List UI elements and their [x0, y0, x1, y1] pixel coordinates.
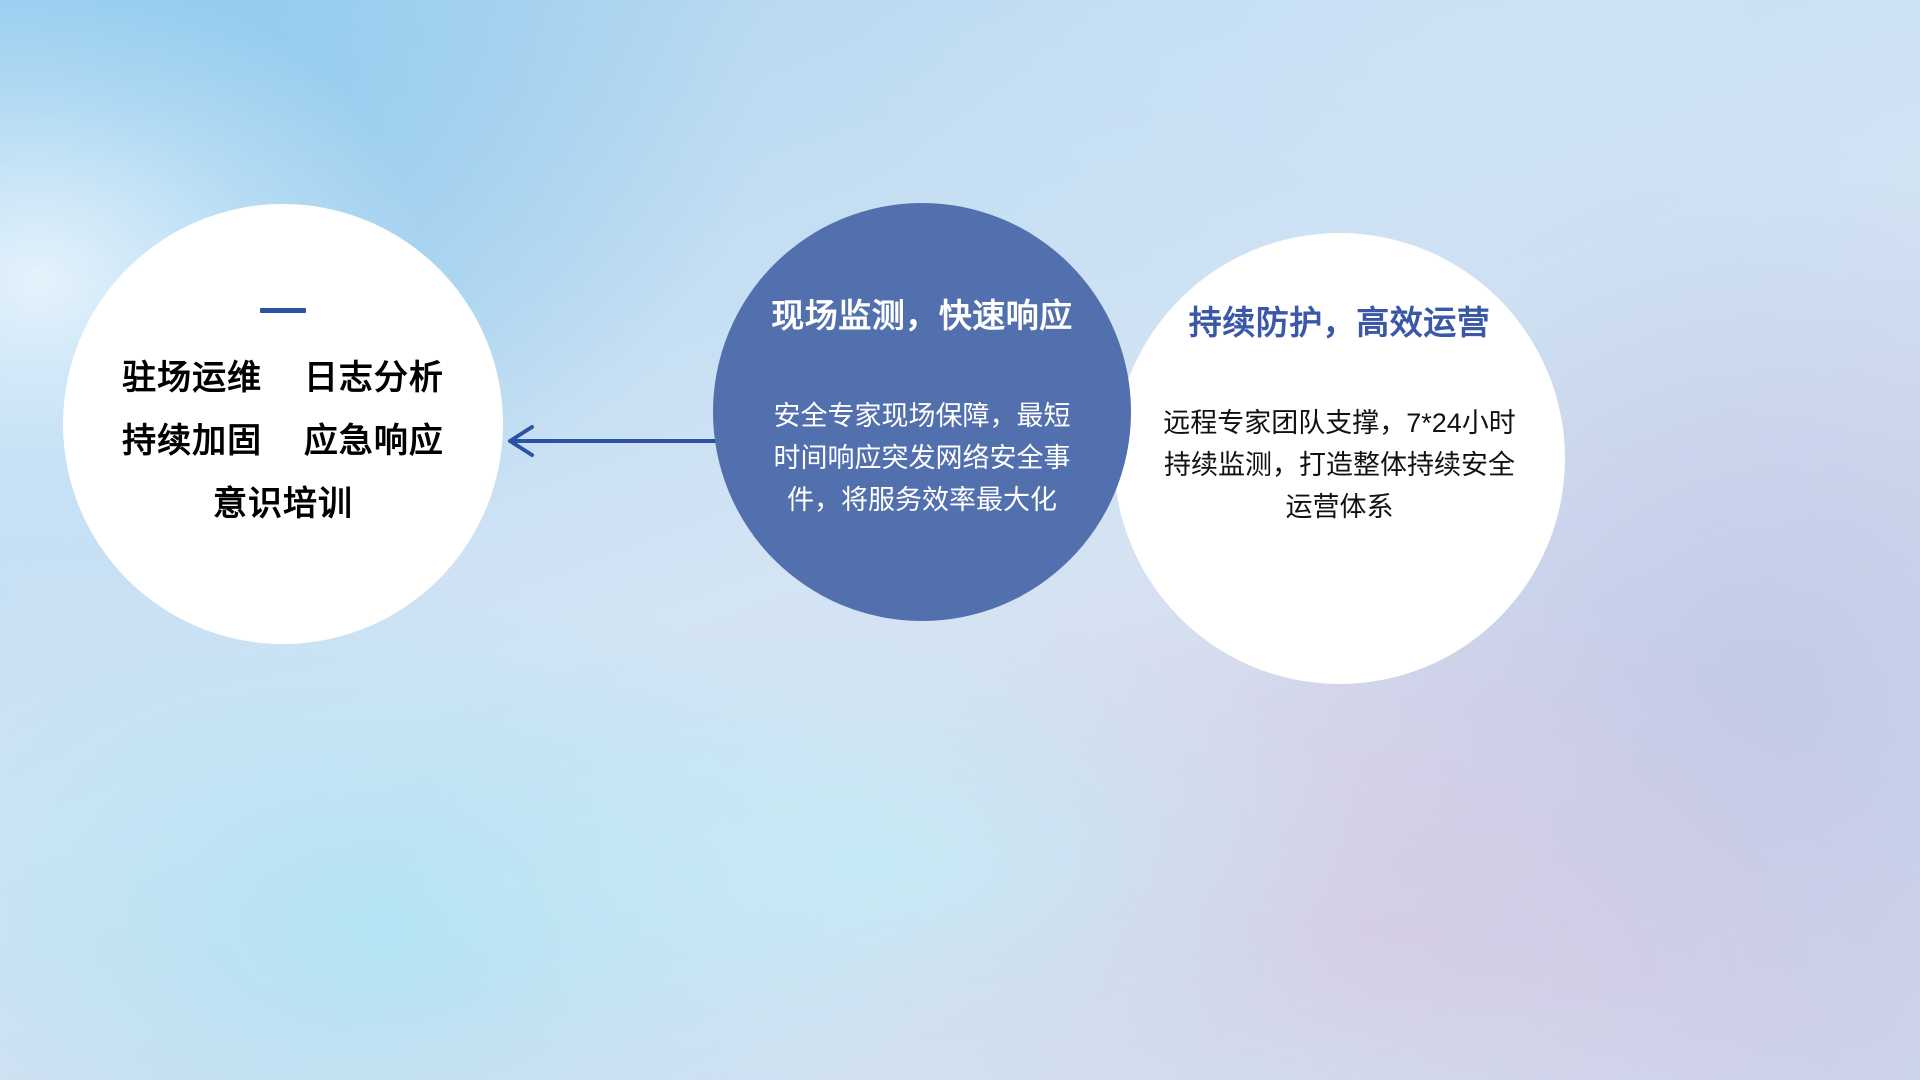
middle-circle-title: 现场监测，快速响应	[707, 289, 1137, 337]
left-service-circle[interactable]: 驻场运维 日志分析 持续加固 应急响应 意识培训	[63, 204, 503, 644]
right-circle-body: 远程专家团队支撑，7*24小时持续监测，打造整体持续安全运营体系	[1160, 402, 1520, 528]
middle-circle-body: 安全专家现场保障，最短时间响应突发网络安全事件，将服务效率最大化	[763, 395, 1081, 521]
left-keyword-line-3: 意识培训	[63, 487, 503, 521]
left-circle-content: 驻场运维 日志分析 持续加固 应急响应 意识培训	[63, 308, 503, 521]
right-circle-title: 持续防护，高效运营	[1114, 296, 1565, 344]
left-keyword-line-1: 驻场运维 日志分析	[63, 361, 503, 395]
accent-divider	[260, 308, 306, 313]
left-keyword-line-2: 持续加固 应急响应	[63, 424, 503, 458]
right-service-circle[interactable]: 持续防护，高效运营 远程专家团队支撑，7*24小时持续监测，打造整体持续安全运营…	[1114, 233, 1565, 684]
slide-canvas: 驻场运维 日志分析 持续加固 应急响应 意识培训 现场监测，快速响应 安全专家现…	[0, 0, 1920, 1080]
middle-service-circle[interactable]: 现场监测，快速响应 安全专家现场保障，最短时间响应突发网络安全事件，将服务效率最…	[713, 203, 1131, 621]
